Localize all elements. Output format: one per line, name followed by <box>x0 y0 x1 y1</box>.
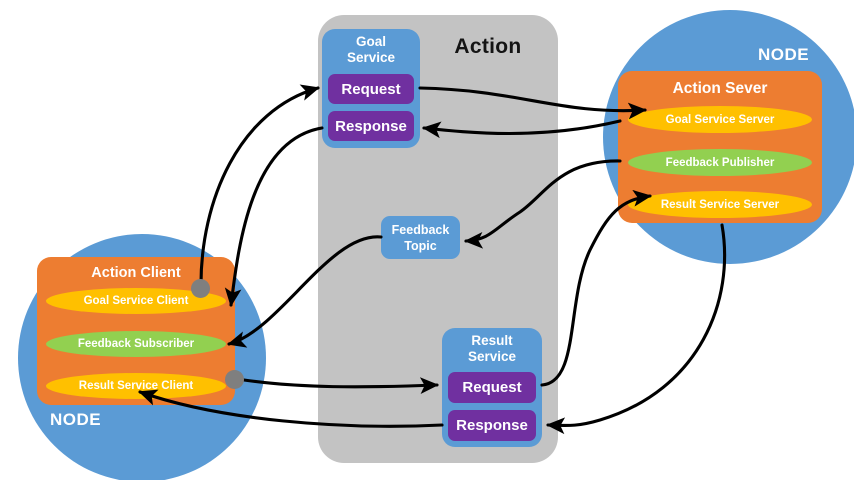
pill-feedback-publisher[interactable]: Feedback Publisher <box>628 149 812 176</box>
goal-service-title-line2: Service <box>322 50 420 66</box>
goal-service-title: Goal Service <box>322 34 420 66</box>
arrow-goal-response-to-client <box>231 128 322 305</box>
pill-result-service-server[interactable]: Result Service Server <box>628 191 812 218</box>
server-node-label: NODE <box>758 45 809 65</box>
feedback-topic-box[interactable]: Feedback Topic <box>381 216 460 259</box>
client-node-label: NODE <box>50 410 101 430</box>
goal-service-response[interactable]: Response <box>328 111 414 141</box>
result-service-box: Result Service Request Response <box>442 328 542 447</box>
action-diagram-canvas: Action <box>0 0 854 480</box>
action-client-box: Action Client Goal Service Client Feedba… <box>37 257 235 405</box>
pill-goal-service-server[interactable]: Goal Service Server <box>628 106 812 133</box>
result-service-title-line2: Service <box>442 349 542 365</box>
result-service-response[interactable]: Response <box>448 410 536 441</box>
goal-service-box: Goal Service Request Response <box>322 29 420 148</box>
arrow-result-request-to-server <box>542 196 650 385</box>
action-client-title: Action Client <box>37 265 235 281</box>
action-server-title: Action Sever <box>618 80 822 98</box>
feedback-topic-title-line2: Topic <box>404 238 436 254</box>
pill-result-service-client[interactable]: Result Service Client <box>46 373 226 399</box>
result-service-title: Result Service <box>442 333 542 365</box>
feedback-topic-title-line1: Feedback <box>392 222 450 238</box>
connector-dot-result-service-client <box>225 370 244 389</box>
goal-service-title-line1: Goal <box>322 34 420 50</box>
result-service-request[interactable]: Request <box>448 372 536 403</box>
goal-service-request[interactable]: Request <box>328 74 414 104</box>
action-panel-title: Action <box>424 35 552 59</box>
pill-feedback-subscriber[interactable]: Feedback Subscriber <box>46 331 226 357</box>
action-server-box: Action Sever Goal Service Server Feedbac… <box>618 71 822 223</box>
result-service-title-line1: Result <box>442 333 542 349</box>
connector-dot-goal-service-client <box>191 279 210 298</box>
